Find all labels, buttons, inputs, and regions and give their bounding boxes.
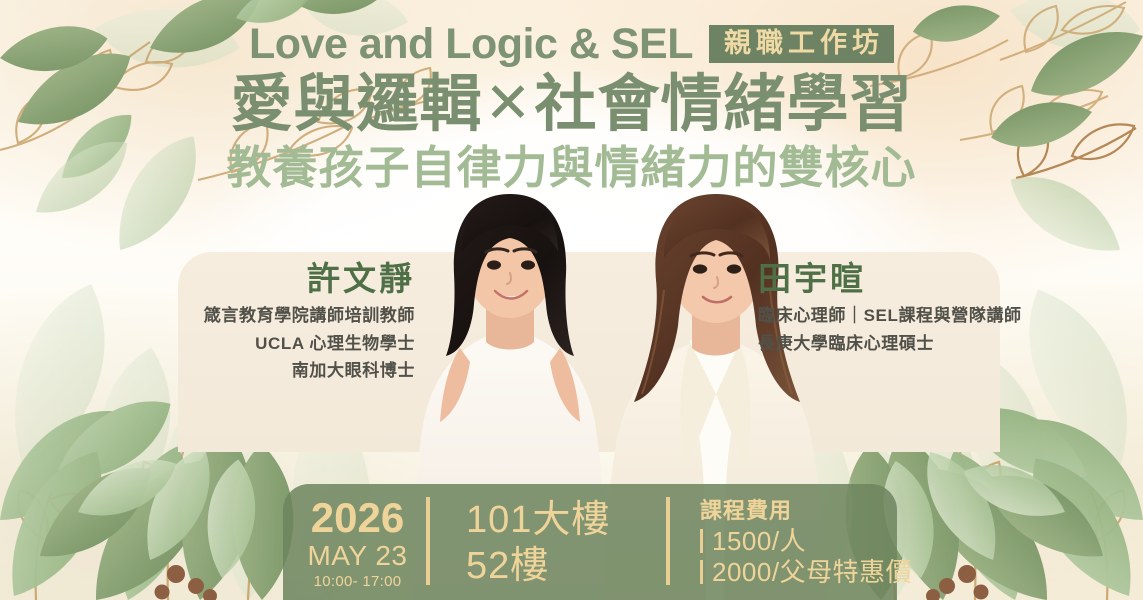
venue-building: 101大樓 (466, 497, 610, 543)
headline-block: Love and Logic & SEL 親職工作坊 愛與邏輯✕社會情緒學習 教… (0, 18, 1143, 192)
event-info-bar: 2026 MAY 23 10:00- 17:00 101大樓 52樓 課程費用 … (283, 484, 897, 600)
speaker-right-credential-1: 臨床心理師｜SEL課程與營隊講師 (758, 302, 1033, 330)
speaker-left-info: 許文靜 箴言教育學院講師培訓教師 UCLA 心理生物學士 南加大眼科博士 (170, 258, 415, 385)
speaker-right-info: 田宇暄 臨床心理師｜SEL課程與營隊講師 長庚大學臨床心理碩士 (758, 258, 1033, 357)
speaker-right-name: 田宇暄 (758, 258, 1033, 299)
event-month-day: MAY 23 (307, 539, 407, 572)
title-main-left: 愛與邏輯 (231, 70, 483, 139)
venue-floor: 52樓 (466, 543, 549, 589)
speaker-left-credential-1: 箴言教育學院講師培訓教師 (170, 302, 415, 330)
fee-couple: 2000/父母特惠價 (712, 557, 912, 588)
fee-row-standard: 1500/人 (700, 526, 806, 557)
fee-title: 課程費用 (700, 497, 792, 525)
fee-column: 課程費用 1500/人 2000/父母特惠價 (670, 497, 912, 585)
title-main: 愛與邏輯✕社會情緒學習 (0, 72, 1143, 139)
fee-row-couple: 2000/父母特惠價 (700, 557, 912, 588)
promotional-poster: Love and Logic & SEL 親職工作坊 愛與邏輯✕社會情緒學習 教… (0, 0, 1143, 600)
speaker-left-name: 許文靜 (170, 258, 415, 299)
speaker-left-credential-2: UCLA 心理生物學士 (170, 330, 415, 358)
speaker-left-credential-3: 南加大眼科博士 (170, 357, 415, 385)
workshop-badge: 親職工作坊 (709, 25, 894, 63)
fee-standard: 1500/人 (712, 526, 806, 557)
date-column: 2026 MAY 23 10:00- 17:00 (283, 497, 426, 585)
event-time: 10:00- 17:00 (314, 572, 402, 592)
fee-tick-icon (700, 560, 703, 584)
title-english-row: Love and Logic & SEL 親職工作坊 (0, 18, 1143, 70)
title-main-right: 社會情緒學習 (534, 70, 912, 139)
title-english: Love and Logic & SEL (249, 23, 693, 66)
title-cross-icon: ✕ (483, 73, 535, 133)
venue-column: 101大樓 52樓 (430, 497, 666, 585)
fee-tick-icon (700, 529, 703, 553)
title-subtitle: 教養孩子自律力與情緒力的雙核心 (0, 143, 1143, 193)
event-year: 2026 (311, 497, 404, 539)
speaker-right-credential-2: 長庚大學臨床心理碩士 (758, 330, 1033, 358)
